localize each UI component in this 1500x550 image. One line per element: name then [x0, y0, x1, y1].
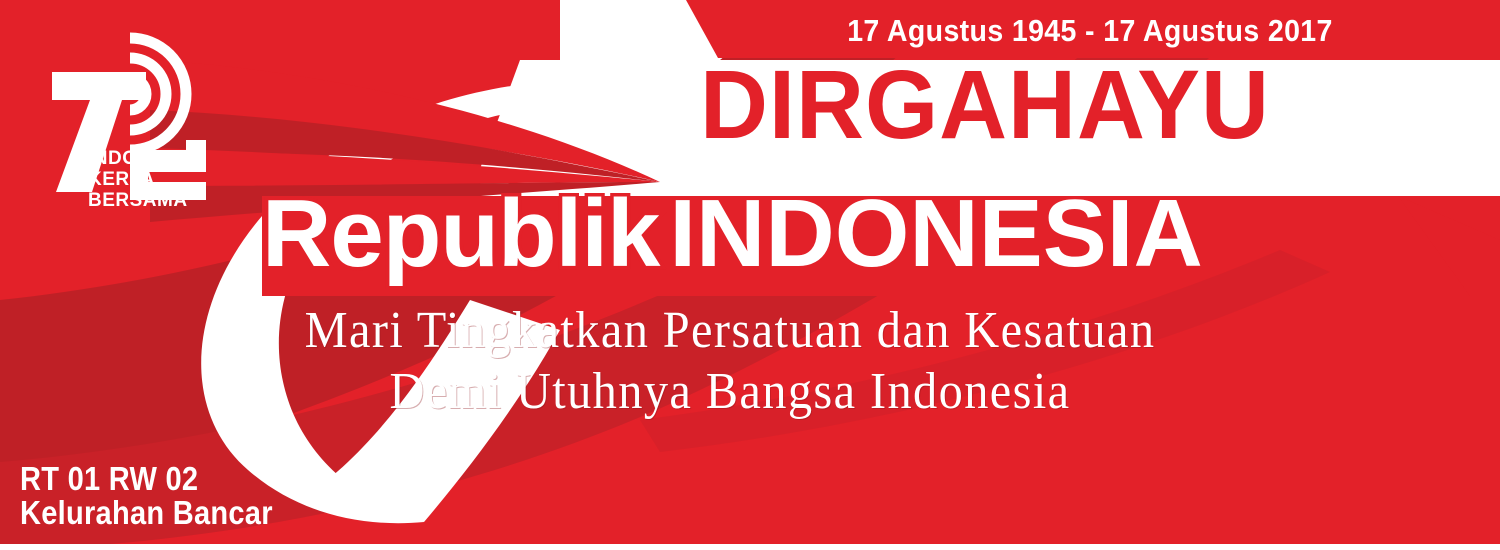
organization-line-1: RT 01 RW 02 — [20, 462, 273, 496]
headline-republik-indonesia: RepublikINDONESIA — [262, 186, 1203, 282]
independence-day-banner: INDONESIA KERJA BERSAMA 17 Agustus 1945 … — [0, 0, 1500, 550]
logo-tagline-line-2: KERJA — [88, 171, 248, 189]
logo-tagline-line-1: INDONESIA — [88, 150, 248, 168]
headline-word-indonesia: INDONESIA — [669, 180, 1202, 287]
headline-dirgahayu: DIRGAHAYU — [700, 56, 1437, 153]
organization-block: RT 01 RW 02 Kelurahan Bancar — [20, 462, 307, 529]
date-range-text: 17 Agustus 1945 - 17 Agustus 2017 — [814, 13, 1366, 49]
logo-tagline-line-3: BERSAMA — [88, 192, 248, 210]
tagline-line-2: Demi Utuhnya Bangsa Indonesia — [51, 361, 1409, 422]
footer-strip — [0, 544, 1500, 550]
tagline-block: Mari Tingkatkan Persatuan dan Kesatuan D… — [0, 300, 1460, 423]
organization-line-2: Kelurahan Bancar — [20, 496, 273, 530]
tagline-line-1: Mari Tingkatkan Persatuan dan Kesatuan — [51, 300, 1409, 361]
headline-word-republik: Republik — [262, 180, 659, 287]
logo-tagline-block: INDONESIA KERJA BERSAMA — [88, 150, 248, 213]
